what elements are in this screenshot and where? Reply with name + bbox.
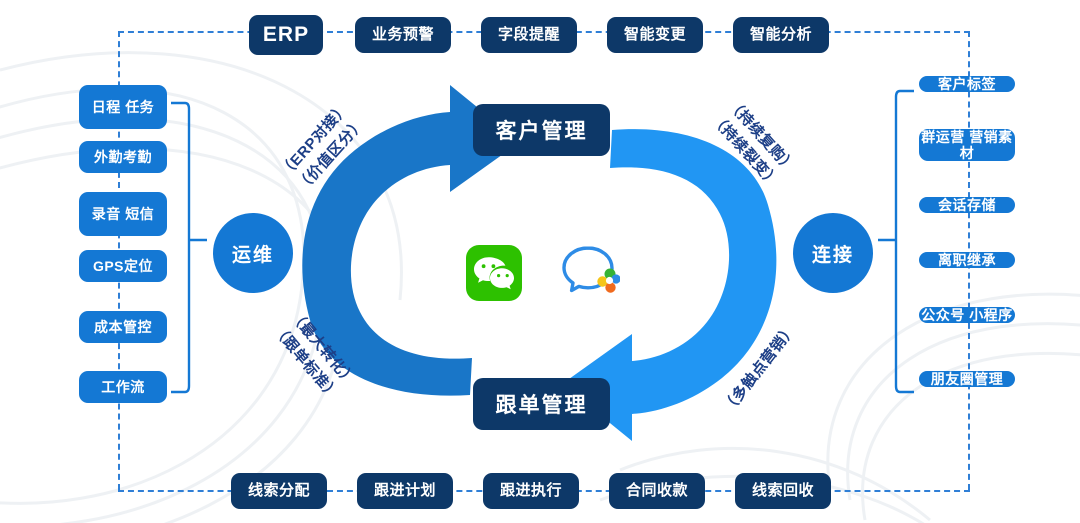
top-row-item-smart-change[interactable]: 智能变更 [607,17,703,53]
left-item-label-line2: 任务 [125,99,154,115]
top-row-item-field-reminder[interactable]: 字段提醒 [481,17,577,53]
right-item-label-line1: 离职继承 [938,252,996,268]
bottom-row-item-lead-assign[interactable]: 线索分配 [231,473,327,509]
left-item-label-line1: 录音 [92,206,121,222]
left-hub-circle-ops[interactable]: 运维 [213,213,293,293]
left-item-label-line1: 日程 [92,99,121,115]
top-row-item-erp[interactable]: ERP [249,15,323,55]
diagram-canvas: ERP 业务预警 字段提醒 智能变更 智能分析 线索分配 跟进计划 跟进执行 合… [0,0,1080,523]
wecom-icon [558,244,620,302]
right-item-label-line1: 朋友圈管理 [931,371,1004,387]
bottom-row-item-lead-recycle[interactable]: 线索回收 [735,473,831,509]
left-item-label-line1: 成本管控 [94,319,152,335]
left-item-schedule-task[interactable]: 日程 任务 [79,85,167,129]
bottom-row-label: 线索分配 [248,482,310,499]
left-item-cost-control[interactable]: 成本管控 [79,311,167,343]
bottom-row-item-contract-payment[interactable]: 合同收款 [609,473,705,509]
bottom-row-item-followup-exec[interactable]: 跟进执行 [483,473,579,509]
right-hub-label: 连接 [812,240,854,267]
center-node-label: 客户管理 [496,115,588,145]
top-row-label: 业务预警 [372,26,434,43]
left-item-label-line1: GPS定位 [93,258,153,274]
top-row-item-smart-analysis[interactable]: 智能分析 [733,17,829,53]
bottom-row-item-followup-plan[interactable]: 跟进计划 [357,473,453,509]
left-item-label-line2: 短信 [125,206,154,222]
right-item-moments-manage[interactable]: 朋友圈管理 [919,371,1015,387]
left-item-label-line1: 外勤考勤 [94,149,152,165]
wechat-icon [466,245,522,301]
top-row-label: 智能分析 [750,26,812,43]
left-bracket [163,100,213,395]
left-item-recording-sms[interactable]: 录音 短信 [79,192,167,236]
right-item-label-line1: 会话存储 [938,197,996,213]
right-item-label-line1: 公众号 [921,307,965,323]
right-item-label-line1: 客户标签 [938,76,996,92]
top-row-label: ERP [263,23,309,47]
right-item-label-line1: 群运营 [921,129,965,145]
right-item-label-line2: 营销素材 [960,129,1013,161]
center-icon-group [466,242,626,304]
bottom-row-label: 合同收款 [626,482,688,499]
right-item-customer-tag[interactable]: 客户标签 [919,76,1015,92]
center-node-order-management[interactable]: 跟单管理 [473,378,610,430]
left-item-workflow[interactable]: 工作流 [79,371,167,403]
left-hub-label: 运维 [232,240,274,267]
right-item-resign-handover[interactable]: 离职继承 [919,252,1015,268]
bottom-row-label: 跟进计划 [374,482,436,499]
right-item-session-archive[interactable]: 会话存储 [919,197,1015,213]
bottom-row-label: 线索回收 [752,482,814,499]
center-node-label: 跟单管理 [496,389,588,419]
left-item-label-line1: 工作流 [101,379,145,395]
bottom-row-label: 跟进执行 [500,482,562,499]
left-item-gps-location[interactable]: GPS定位 [79,250,167,282]
right-item-group-ops-material[interactable]: 群运营 营销素材 [919,129,1015,161]
center-node-customer-management[interactable]: 客户管理 [473,104,610,156]
right-bracket [868,88,922,395]
right-item-label-line2: 小程序 [969,307,1013,323]
top-row-item-business-alert[interactable]: 业务预警 [355,17,451,53]
right-item-oa-miniprogram[interactable]: 公众号 小程序 [919,307,1015,323]
right-hub-circle-connect[interactable]: 连接 [793,213,873,293]
top-row-label: 字段提醒 [498,26,560,43]
left-item-field-attendance[interactable]: 外勤考勤 [79,141,167,173]
top-row-label: 智能变更 [624,26,686,43]
